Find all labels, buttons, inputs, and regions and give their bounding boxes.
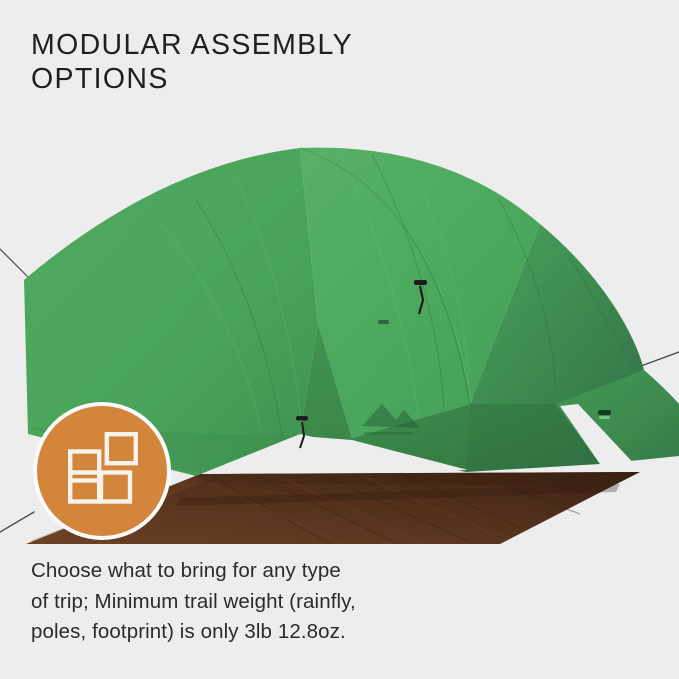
infographic-page: MODULAR ASSEMBLY OPTIONS bbox=[0, 0, 679, 679]
rainfly-buckle-right bbox=[598, 410, 611, 419]
modular-blocks-badge bbox=[37, 406, 167, 536]
rainfly-buckle-center bbox=[378, 320, 389, 324]
description-text: Choose what to bring for any type of tri… bbox=[31, 556, 561, 648]
page-title: MODULAR ASSEMBLY OPTIONS bbox=[31, 28, 551, 96]
modular-blocks-icon bbox=[68, 432, 138, 504]
